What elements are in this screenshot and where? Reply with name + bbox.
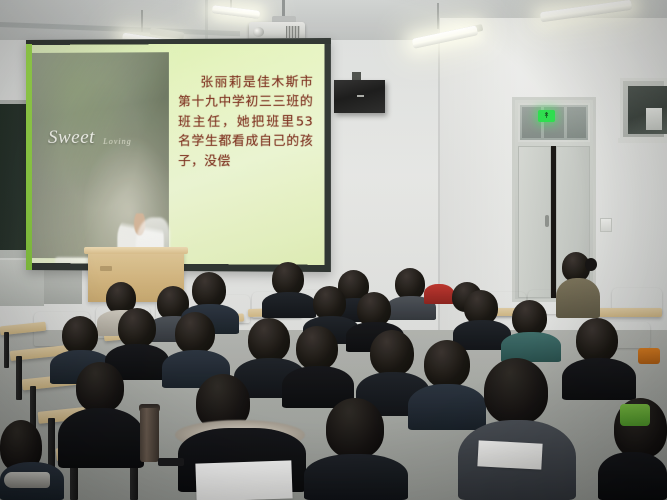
shoe xyxy=(4,472,50,488)
window-sill xyxy=(618,138,667,143)
podium-emblem xyxy=(100,266,112,271)
ceiling-light-rod xyxy=(437,3,439,29)
speaker-led xyxy=(357,95,364,97)
desk-post xyxy=(4,332,9,368)
ceiling-light-rod xyxy=(141,10,143,32)
audience-body xyxy=(304,454,408,500)
audience-head xyxy=(76,362,124,412)
projected-slide: Sweet Loving 张丽莉是佳木斯市第十九中学初三三班的班主任，她把班里5… xyxy=(31,43,325,265)
slide-body-text: 张丽莉是佳木斯市第十九中学初三三班的班主任，她把班里53名学生都看成自己的孩子，… xyxy=(178,72,313,170)
standing-person-body xyxy=(556,278,600,318)
green-bag[interactable] xyxy=(620,404,650,426)
screen-top-bar xyxy=(26,40,331,44)
audience-head xyxy=(248,318,290,362)
projector-lens xyxy=(253,27,264,37)
thermos-flask[interactable] xyxy=(140,408,159,462)
desk-post xyxy=(16,356,22,400)
window-pane xyxy=(646,108,662,130)
door-transom-window xyxy=(518,103,590,142)
audience-body xyxy=(58,408,144,468)
slide-left-edge xyxy=(26,40,32,270)
audience-head xyxy=(576,318,618,362)
audience-body xyxy=(562,358,636,400)
audience-head xyxy=(424,340,470,388)
light-switch[interactable] xyxy=(600,218,612,232)
mobile-phone[interactable] xyxy=(158,458,184,466)
exit-sign-label: ↟ xyxy=(543,112,550,120)
audience-head xyxy=(484,358,548,424)
projector-vent xyxy=(286,26,300,38)
classroom-scene: Sweet Loving 张丽莉是佳木斯市第十九中学初三三班的班主任，她把班里5… xyxy=(0,0,667,500)
audience-head xyxy=(192,272,226,308)
audience-head xyxy=(512,300,547,336)
audience-body xyxy=(598,452,667,500)
audience-head xyxy=(296,326,338,370)
paper-sheets[interactable] xyxy=(195,460,292,500)
audience-head xyxy=(118,308,156,348)
audience-head xyxy=(326,398,384,458)
audience-head xyxy=(370,330,414,376)
door-handle[interactable] xyxy=(545,215,549,227)
orange-item xyxy=(638,348,660,364)
audience-body-red xyxy=(424,284,454,304)
audience-head xyxy=(313,286,346,320)
fold-desk xyxy=(596,308,662,317)
audience-body xyxy=(262,292,316,318)
hair-bun xyxy=(585,258,597,271)
door-gap xyxy=(551,146,556,298)
paper-sheets[interactable] xyxy=(477,440,542,469)
audience-head xyxy=(272,262,304,296)
audience-body xyxy=(408,384,486,430)
podium-top xyxy=(84,247,188,254)
exit-sign-icon: ↟ xyxy=(538,110,555,122)
slide-photo-subcaption: Loving xyxy=(103,137,131,146)
audience-head xyxy=(175,312,215,354)
transom-pane xyxy=(567,107,586,138)
audience-head xyxy=(62,316,98,354)
